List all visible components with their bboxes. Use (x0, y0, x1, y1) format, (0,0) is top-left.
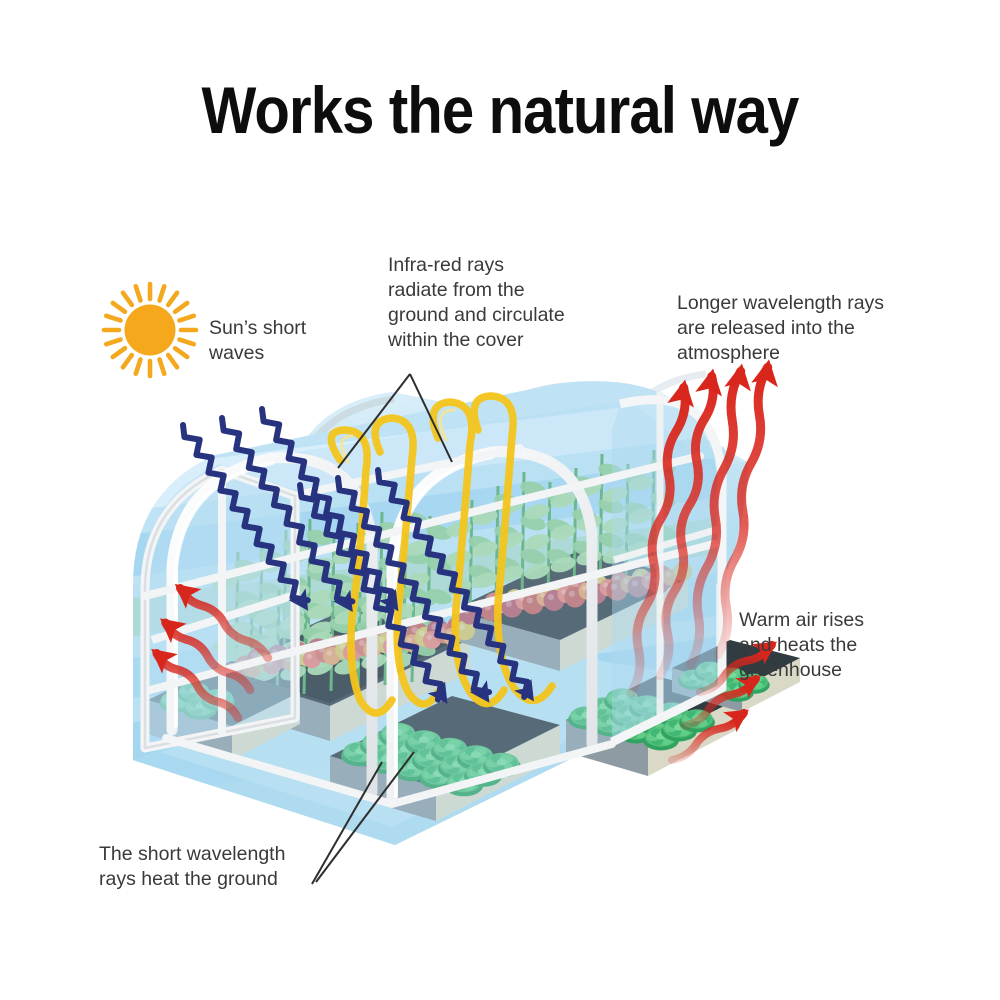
label-infra-red-rays: Infra-red rays radiate from the ground a… (388, 253, 565, 353)
infographic-canvas: Works the natural way (0, 0, 1000, 1000)
label-longer-wavelength-rays: Longer wavelength rays are released into… (677, 291, 884, 366)
label-short-wavelength-ground: The short wavelength rays heat the groun… (99, 842, 285, 892)
label-sun-short-waves: Sun’s short waves (209, 316, 306, 366)
label-warm-air-rises: Warm air rises and heats the greenhouse (739, 608, 864, 683)
